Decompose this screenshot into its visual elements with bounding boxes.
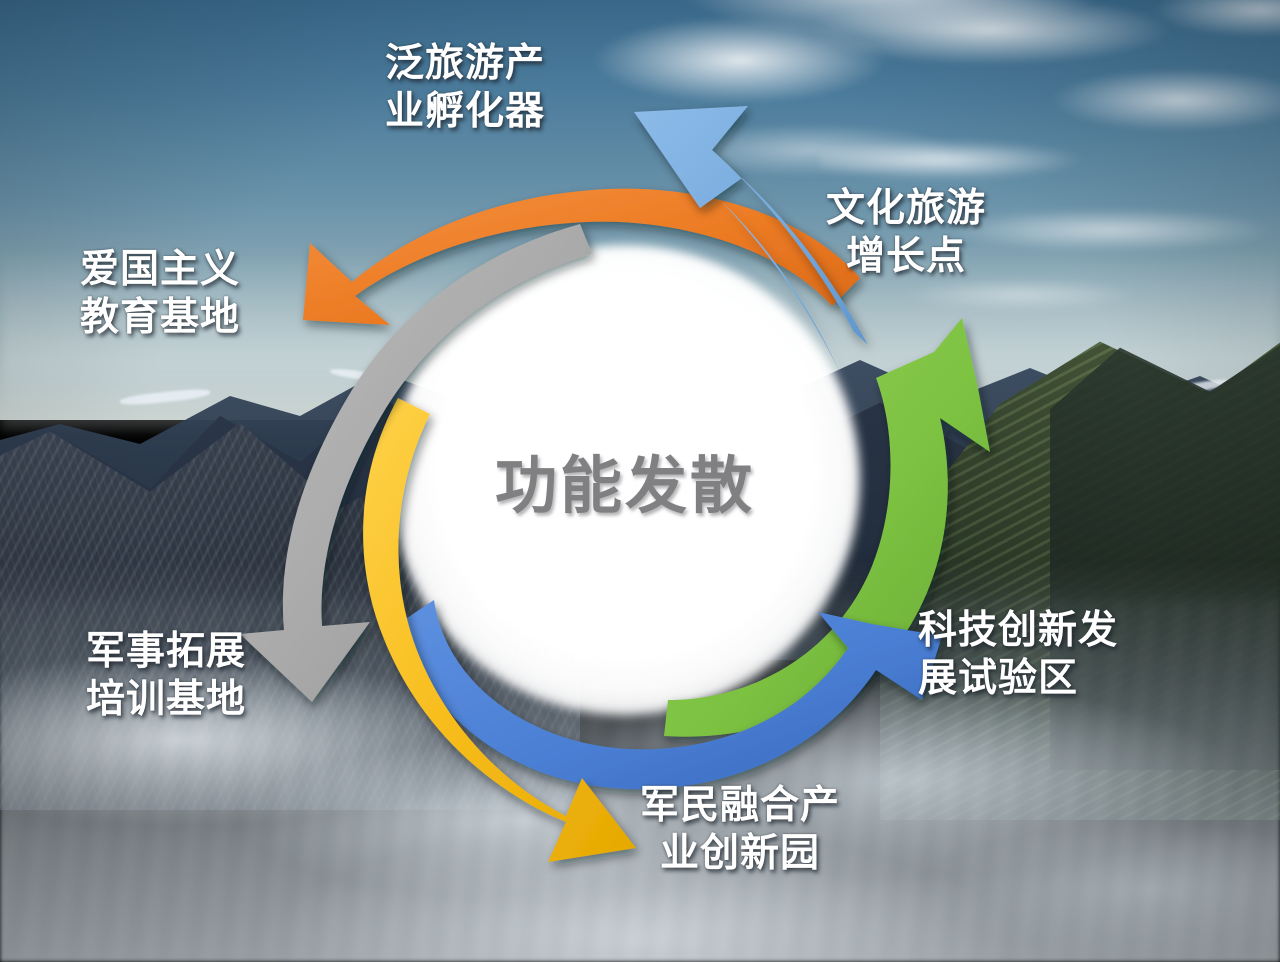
center-label: 功能发散 <box>390 245 860 715</box>
label-civil-military-fusion: 军民融合产 业创新园 <box>640 782 840 877</box>
center-label-text: 功能发散 <box>495 435 755 525</box>
label-incubator: 泛旅游产 业孵化器 <box>385 40 545 135</box>
slide-canvas: 功能发散 泛旅游产 业孵化器 文化旅游 增长点 科技创新发 展试验区 军民融合产… <box>0 0 1280 962</box>
label-military-training: 军事拓展 培训基地 <box>86 628 246 723</box>
label-culture-tourism: 文化旅游 增长点 <box>826 185 986 280</box>
label-patriotism-base: 爱国主义 教育基地 <box>80 246 240 341</box>
label-tech-innovation: 科技创新发 展试验区 <box>918 607 1118 702</box>
